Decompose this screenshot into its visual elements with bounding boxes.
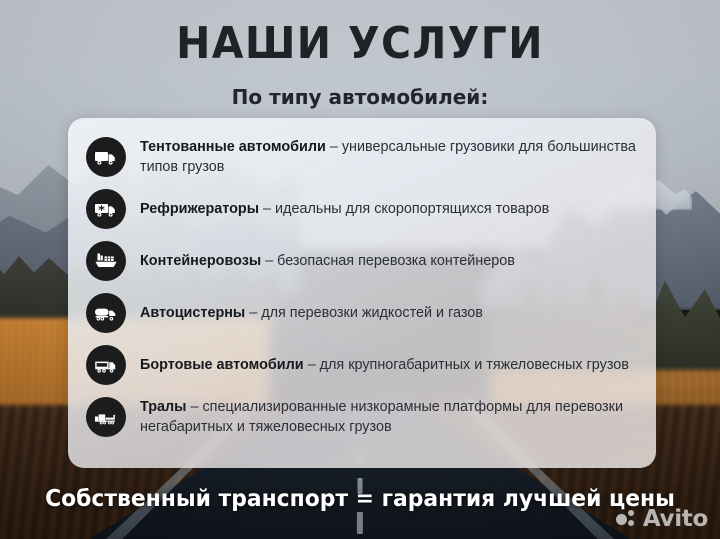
list-item-text: Тралы – специализированные низкорамные п… bbox=[140, 397, 638, 437]
list-item-text: Автоцистерны – для перевозки жидкостей и… bbox=[140, 303, 483, 323]
list-item-description: – безопасная перевозка контейнеров bbox=[261, 253, 515, 269]
footer-tagline: Собственный транспорт = гарантия лучшей … bbox=[18, 484, 702, 514]
avito-dots-icon bbox=[616, 510, 638, 530]
list-item: Автоцистерны – для перевозки жидкостей и… bbox=[86, 290, 638, 336]
list-item-name: Рефрижераторы bbox=[140, 201, 259, 217]
services-list: Тентованные автомобили – универсальные г… bbox=[86, 134, 638, 440]
list-item-name: Контейнеровозы bbox=[140, 253, 261, 269]
services-card: Тентованные автомобили – универсальные г… bbox=[68, 118, 656, 468]
poster-content: НАШИ УСЛУГИ По типу автомобилей: Тентова… bbox=[0, 0, 720, 539]
list-item: Контейнеровозы – безопасная перевозка ко… bbox=[86, 238, 638, 284]
refrigerated-truck-icon bbox=[86, 189, 126, 229]
lowboy-trailer-icon bbox=[86, 397, 126, 437]
list-item: Тентованные автомобили – универсальные г… bbox=[86, 134, 638, 180]
list-item-description: – идеальны для скоропортящихся товаров bbox=[259, 201, 549, 217]
list-item: Тралы – специализированные низкорамные п… bbox=[86, 394, 638, 440]
list-item-description: – для крупногабаритных и тяжеловесных гр… bbox=[304, 357, 629, 373]
list-item-name: Тралы bbox=[140, 399, 186, 415]
container-ship-icon bbox=[86, 241, 126, 281]
list-item-name: Бортовые автомобили bbox=[140, 357, 304, 373]
list-item-text: Бортовые автомобили – для крупногабаритн… bbox=[140, 355, 629, 375]
list-item-description: – для перевозки жидкостей и газов bbox=[245, 305, 483, 321]
avito-wordmark: Avito bbox=[643, 508, 708, 531]
list-item-text: Тентованные автомобили – универсальные г… bbox=[140, 137, 638, 177]
list-item-description: – специализированные низкорамные платфор… bbox=[140, 399, 623, 435]
page-subtitle: По типу автомобилей: bbox=[0, 84, 720, 110]
list-item: Бортовые автомобили – для крупногабаритн… bbox=[86, 342, 638, 388]
box-truck-icon bbox=[86, 137, 126, 177]
list-item: Рефрижераторы – идеальны для скоропортящ… bbox=[86, 186, 638, 232]
list-item-name: Автоцистерны bbox=[140, 305, 245, 321]
list-item-text: Рефрижераторы – идеальны для скоропортящ… bbox=[140, 199, 549, 219]
list-item-text: Контейнеровозы – безопасная перевозка ко… bbox=[140, 251, 515, 271]
list-item-name: Тентованные автомобили bbox=[140, 139, 326, 155]
flatbed-truck-icon bbox=[86, 345, 126, 385]
tanker-truck-icon bbox=[86, 293, 126, 333]
page-title: НАШИ УСЛУГИ bbox=[25, 20, 695, 68]
avito-watermark: Avito bbox=[616, 508, 708, 531]
